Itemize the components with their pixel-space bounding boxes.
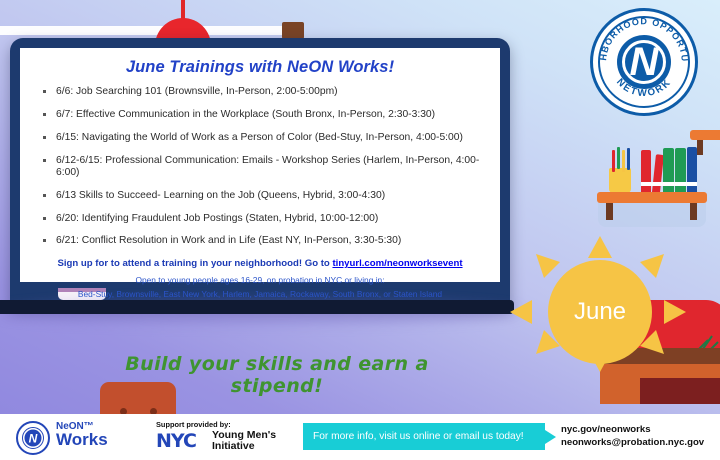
list-item: 6/13 Skills to Succeed- Learning on the … [38,190,486,202]
pencil-yellow [622,150,625,172]
month-label: June [574,298,626,326]
rod-end-cap [282,22,304,39]
tagline: Build your skills and earn a stipend! [112,353,442,397]
support-label: Support provided by: [156,420,231,429]
training-list: 6/6: Job Searching 101 (Brownsville, In-… [34,86,486,248]
screen-title: June Trainings with NeON Works! [34,58,486,77]
book-shelf [597,192,707,203]
list-item: 6/15: Navigating the World of Work as a … [38,132,486,144]
list-item: 6/12-6/15: Professional Communication: E… [38,155,486,180]
screen-content: June Trainings with NeON Works! 6/6: Job… [20,48,500,292]
shelf-leg-left [606,203,613,220]
seal-core-ring [622,40,666,84]
poster-canvas: NEIGHBORHOOD OPPORTUNITY NETWORK N [0,0,720,460]
info-callout-text: For more info, visit us online or email … [313,431,524,442]
neon-seal-logo: NEIGHBORHOOD OPPORTUNITY NETWORK N [590,8,698,116]
book-stripe [641,182,697,186]
sun-disc: June [548,260,652,364]
list-item: 6/21: Conflict Resolution in Work and in… [38,235,486,247]
neighborhoods-text: Bed-Stuy, Brownsville, East New York, Ha… [34,289,486,299]
pencil-red [612,150,615,172]
nyc-logo: NYC [156,430,196,452]
list-item: 6/20: Identifying Fraudulent Job Posting… [38,213,486,225]
list-item: 6/6: Job Searching 101 (Brownsville, In-… [38,86,486,98]
eligibility-text: Open to young people ages 16-29, on prob… [34,275,486,285]
pencil-blue [627,148,630,170]
upper-shelf [690,130,720,140]
footer-seal-letter: N [25,430,42,447]
pencil-green [617,147,620,169]
seal-core: N [617,35,671,89]
footer-brand-works: Works [56,430,108,450]
list-item: 6/7: Effective Communication in the Work… [38,109,486,121]
wall-rod [0,26,290,35]
books-group [641,147,707,192]
footer-seal-logo: N [16,421,50,455]
signup-text: Sign up for to attend a training in your… [57,258,332,269]
info-callout: For more info, visit us online or email … [303,423,545,450]
month-badge: June [510,236,686,372]
callout-tail [545,430,556,444]
signup-line: Sign up for to attend a training in your… [34,258,486,269]
signup-link[interactable]: tinyurl.com/neonworksevent [332,258,462,269]
ymi-line-2: Initiative [212,440,255,452]
shelf-leg-right [690,203,697,220]
contact-email[interactable]: neonworks@probation.nyc.gov [561,437,704,448]
desk-drawer [640,378,720,404]
contact-website[interactable]: nyc.gov/neonworks [561,424,651,435]
laptop-base [0,300,514,314]
